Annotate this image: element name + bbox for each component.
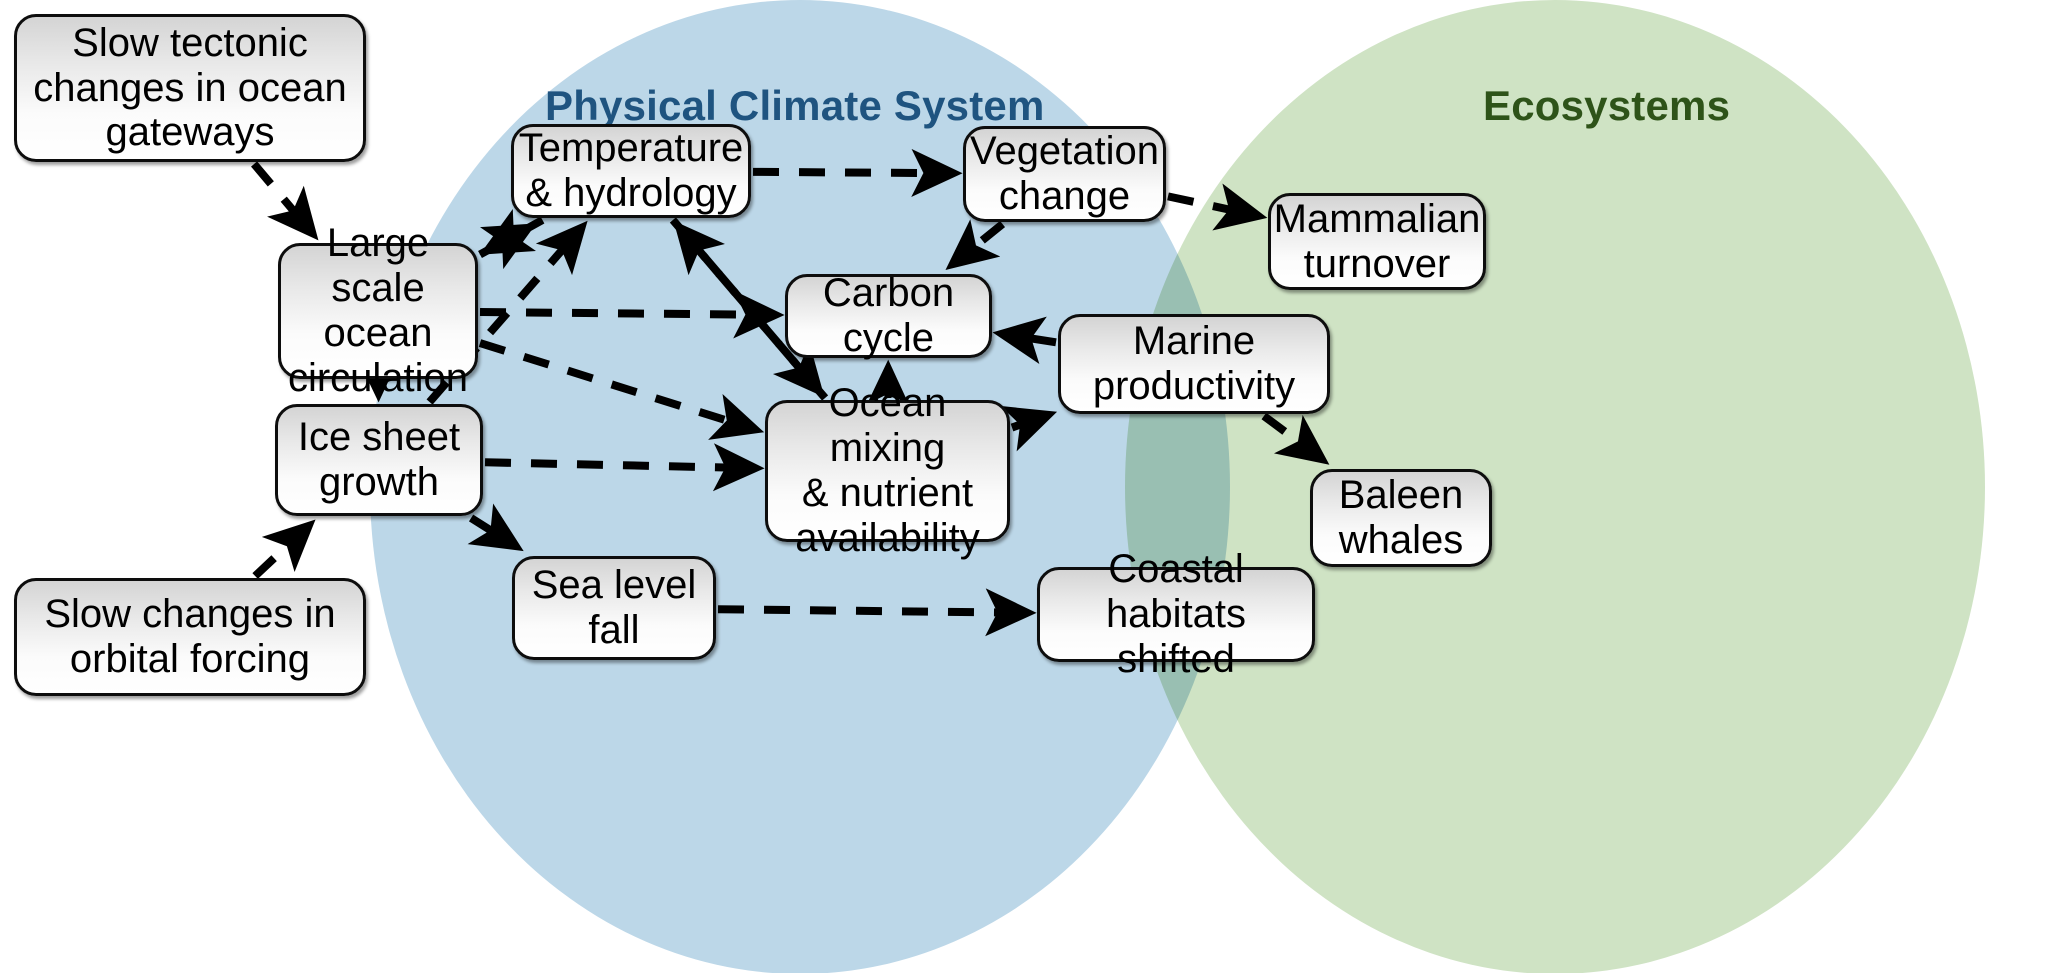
node-label: Carboncycle (823, 271, 954, 361)
node-label: Mammalianturnover (1274, 197, 1481, 287)
node-label: Temperature& hydrology (519, 126, 744, 216)
node-baleen-whales[interactable]: Baleenwhales (1310, 469, 1492, 567)
node-carbon-cycle[interactable]: Carboncycle (785, 274, 992, 358)
node-large-scale-ocean-circulation[interactable]: Large scaleoceancirculation (278, 243, 478, 379)
node-label: Large scaleoceancirculation (288, 221, 468, 400)
node-slow-changes-orbital-forcing[interactable]: Slow changes inorbital forcing (14, 578, 366, 696)
node-vegetation-change[interactable]: Vegetationchange (963, 126, 1166, 222)
node-slow-tectonic-changes[interactable]: Slow tectonicchanges in oceangateways (14, 14, 366, 162)
diagram-canvas: Physical Climate SystemEcosystems Slow t… (0, 0, 2067, 973)
node-coastal-habitats-shifted[interactable]: Coastal habitatsshifted (1037, 567, 1315, 662)
node-ocean-mixing-nutrient-availability[interactable]: Ocean mixing& nutrientavailability (765, 400, 1010, 542)
node-label: Baleenwhales (1339, 473, 1464, 563)
node-temperature-hydrology[interactable]: Temperature& hydrology (511, 124, 751, 218)
node-label: Slow changes inorbital forcing (44, 592, 335, 682)
node-sea-level-fall[interactable]: Sea levelfall (512, 556, 716, 660)
node-label: Coastal habitatsshifted (1050, 547, 1302, 681)
node-label: Vegetationchange (970, 129, 1159, 219)
region-title-physical-climate-system: Physical Climate System (545, 82, 1045, 129)
node-ice-sheet-growth[interactable]: Ice sheetgrowth (275, 404, 483, 516)
node-label: Ocean mixing& nutrientavailability (778, 381, 997, 560)
node-label: Marineproductivity (1093, 319, 1295, 409)
node-mammalian-turnover[interactable]: Mammalianturnover (1268, 193, 1486, 290)
node-label: Sea levelfall (532, 563, 697, 653)
node-marine-productivity[interactable]: Marineproductivity (1058, 314, 1330, 414)
region-title-ecosystems: Ecosystems (1483, 82, 1730, 129)
node-label: Slow tectonicchanges in oceangateways (33, 21, 347, 155)
node-label: Ice sheetgrowth (298, 415, 460, 505)
